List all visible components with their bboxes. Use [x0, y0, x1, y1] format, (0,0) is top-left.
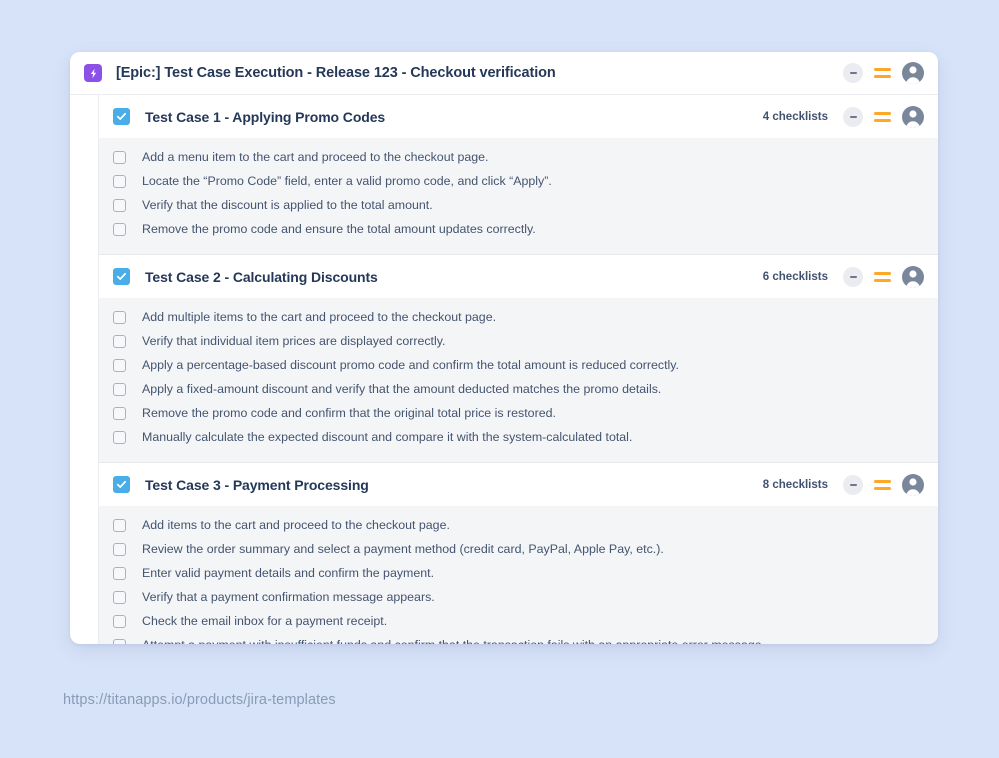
checklist-item[interactable]: Check the email inbox for a payment rece…: [113, 610, 924, 634]
checklist-item-label: Attempt a payment with insufficient fund…: [142, 636, 765, 644]
checklist-checkbox[interactable]: [113, 223, 126, 236]
checklist-item[interactable]: Verify that the discount is applied to t…: [113, 194, 924, 218]
checklist-item-label: Verify that the discount is applied to t…: [142, 196, 433, 215]
priority-bar-top: [874, 112, 891, 115]
test-case-title: Test Case 3 - Payment Processing: [145, 477, 369, 493]
test-case-block: Test Case 3 - Payment Processing 8 check…: [99, 463, 938, 644]
checklist-item[interactable]: Manually calculate the expected discount…: [113, 426, 924, 450]
checklist-item-label: Check the email inbox for a payment rece…: [142, 612, 387, 631]
checklist-count-label: 8 checklists: [763, 479, 828, 491]
user-avatar-icon[interactable]: [902, 106, 924, 128]
checklist-item[interactable]: Add a menu item to the cart and proceed …: [113, 146, 924, 170]
test-case-row-controls: 6 checklists: [763, 266, 924, 288]
footer-url[interactable]: https://titanapps.io/products/jira-templ…: [63, 692, 336, 708]
test-case-checkbox-checked[interactable]: [113, 476, 130, 493]
test-case-header-row[interactable]: Test Case 1 - Applying Promo Codes 4 che…: [99, 95, 938, 138]
test-case-title: Test Case 1 - Applying Promo Codes: [145, 109, 385, 125]
checklist-body: Add items to the cart and proceed to the…: [99, 506, 938, 644]
page-root: [Epic:] Test Case Execution - Release 12…: [0, 0, 999, 758]
priority-bar-top: [874, 480, 891, 483]
test-case-block: Test Case 2 - Calculating Discounts 6 ch…: [99, 255, 938, 463]
checklist-checkbox[interactable]: [113, 567, 126, 580]
test-case-status-badge[interactable]: [843, 107, 863, 127]
checklist-item[interactable]: Add multiple items to the cart and proce…: [113, 306, 924, 330]
checklist-item[interactable]: Enter valid payment details and confirm …: [113, 562, 924, 586]
checklist-checkbox[interactable]: [113, 615, 126, 628]
test-case-panel: Test Case 1 - Applying Promo Codes 4 che…: [98, 95, 938, 644]
test-case-row-controls: 4 checklists: [763, 106, 924, 128]
medium-priority-icon[interactable]: [874, 66, 891, 80]
checklist-item-label: Manually calculate the expected discount…: [142, 428, 632, 447]
checklist-checkbox[interactable]: [113, 543, 126, 556]
priority-bar-bottom: [874, 119, 891, 122]
test-case-checkbox-checked[interactable]: [113, 108, 130, 125]
checklist-item[interactable]: Add items to the cart and proceed to the…: [113, 514, 924, 538]
checklist-item[interactable]: Review the order summary and select a pa…: [113, 538, 924, 562]
checklist-count-label: 6 checklists: [763, 271, 828, 283]
jira-epic-card: [Epic:] Test Case Execution - Release 12…: [70, 52, 938, 644]
user-avatar-icon[interactable]: [902, 266, 924, 288]
checklist-item-label: Apply a percentage-based discount promo …: [142, 356, 679, 375]
checklist-checkbox[interactable]: [113, 431, 126, 444]
dash-icon: [850, 72, 857, 74]
dash-icon: [850, 116, 857, 118]
checklist-checkbox[interactable]: [113, 175, 126, 188]
checklist-item-label: Verify that individual item prices are d…: [142, 332, 445, 351]
checklist-checkbox[interactable]: [113, 151, 126, 164]
epic-title: [Epic:] Test Case Execution - Release 12…: [116, 65, 556, 81]
test-case-status-badge[interactable]: [843, 475, 863, 495]
epic-header-row[interactable]: [Epic:] Test Case Execution - Release 12…: [70, 52, 938, 95]
user-avatar-icon[interactable]: [902, 474, 924, 496]
checklist-item-label: Add multiple items to the cart and proce…: [142, 308, 496, 327]
checklist-item-label: Add a menu item to the cart and proceed …: [142, 148, 488, 167]
medium-priority-icon[interactable]: [874, 110, 891, 124]
checklist-item-label: Locate the “Promo Code” field, enter a v…: [142, 172, 552, 191]
medium-priority-icon[interactable]: [874, 270, 891, 284]
test-case-status-badge[interactable]: [843, 267, 863, 287]
checklist-item[interactable]: Remove the promo code and confirm that t…: [113, 402, 924, 426]
checklist-checkbox[interactable]: [113, 335, 126, 348]
checklist-body: Add a menu item to the cart and proceed …: [99, 138, 938, 254]
checklist-checkbox[interactable]: [113, 639, 126, 644]
epic-row-controls: [843, 62, 924, 84]
epic-lightning-icon: [84, 64, 102, 82]
epic-status-badge[interactable]: [843, 63, 863, 83]
checklist-item[interactable]: Apply a fixed-amount discount and verify…: [113, 378, 924, 402]
priority-bar-bottom: [874, 75, 891, 78]
priority-bar-top: [874, 272, 891, 275]
user-avatar-icon[interactable]: [902, 62, 924, 84]
checklist-item-label: Remove the promo code and ensure the tot…: [142, 220, 536, 239]
priority-bar-bottom: [874, 487, 891, 490]
test-case-header-row[interactable]: Test Case 3 - Payment Processing 8 check…: [99, 463, 938, 506]
checklist-item[interactable]: Verify that a payment confirmation messa…: [113, 586, 924, 610]
checklist-checkbox[interactable]: [113, 383, 126, 396]
test-case-block: Test Case 1 - Applying Promo Codes 4 che…: [99, 95, 938, 255]
checklist-item[interactable]: Remove the promo code and ensure the tot…: [113, 218, 924, 242]
test-case-checkbox-checked[interactable]: [113, 268, 130, 285]
checklist-item-label: Review the order summary and select a pa…: [142, 540, 664, 559]
checklist-item-label: Apply a fixed-amount discount and verify…: [142, 380, 661, 399]
checklist-item[interactable]: Locate the “Promo Code” field, enter a v…: [113, 170, 924, 194]
checklist-checkbox[interactable]: [113, 591, 126, 604]
test-case-header-row[interactable]: Test Case 2 - Calculating Discounts 6 ch…: [99, 255, 938, 298]
dash-icon: [850, 484, 857, 486]
checklist-item-label: Add items to the cart and proceed to the…: [142, 516, 450, 535]
checklist-checkbox[interactable]: [113, 359, 126, 372]
medium-priority-icon[interactable]: [874, 478, 891, 492]
checklist-item-label: Enter valid payment details and confirm …: [142, 564, 434, 583]
dash-icon: [850, 276, 857, 278]
test-case-row-controls: 8 checklists: [763, 474, 924, 496]
checklist-item-label: Verify that a payment confirmation messa…: [142, 588, 435, 607]
priority-bar-bottom: [874, 279, 891, 282]
checklist-item[interactable]: Verify that individual item prices are d…: [113, 330, 924, 354]
checklist-checkbox[interactable]: [113, 407, 126, 420]
checklist-item[interactable]: Apply a percentage-based discount promo …: [113, 354, 924, 378]
checklist-checkbox[interactable]: [113, 519, 126, 532]
checklist-item-label: Remove the promo code and confirm that t…: [142, 404, 556, 423]
test-case-title: Test Case 2 - Calculating Discounts: [145, 269, 378, 285]
checklist-count-label: 4 checklists: [763, 111, 828, 123]
checklist-item[interactable]: Attempt a payment with insufficient fund…: [113, 634, 924, 644]
priority-bar-top: [874, 68, 891, 71]
checklist-checkbox[interactable]: [113, 311, 126, 324]
checklist-checkbox[interactable]: [113, 199, 126, 212]
checklist-body: Add multiple items to the cart and proce…: [99, 298, 938, 462]
